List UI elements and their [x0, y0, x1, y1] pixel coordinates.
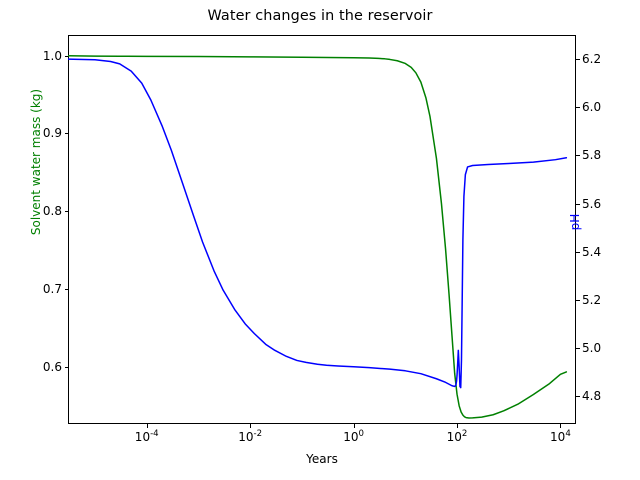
ytick-label-left-1: 0.7	[26, 282, 62, 296]
ytick-mark-left-0	[65, 367, 69, 368]
ytick-label-right-0: 4.8	[582, 389, 622, 403]
x-axis-label: Years	[68, 452, 576, 466]
ytick-label-right-4: 5.6	[582, 197, 622, 211]
y-axis-label-right: pH	[568, 192, 582, 252]
y-axis-label-left: Solvent water mass (kg)	[29, 42, 43, 282]
ytick-label-right-7: 6.2	[582, 52, 622, 66]
xtick-label-4: 104	[550, 430, 571, 444]
xtick-mark-0	[147, 424, 148, 428]
xtick-mark-1	[250, 424, 251, 428]
ytick-label-right-1: 5.0	[582, 341, 622, 355]
ytick-mark-right-0	[576, 396, 580, 397]
ytick-label-left-0: 0.6	[26, 360, 62, 374]
xtick-label-3: 102	[447, 430, 468, 444]
ytick-mark-left-4	[65, 56, 69, 57]
ytick-mark-left-1	[65, 289, 69, 290]
xtick-label-1: 10-2	[238, 430, 262, 444]
ytick-mark-right-1	[576, 348, 580, 349]
xtick-label-0: 10-4	[135, 430, 159, 444]
ytick-label-right-5: 5.8	[582, 148, 622, 162]
ytick-mark-right-7	[576, 59, 580, 60]
matplotlib-figure: Water changes in the reservoir 0.60.70.8…	[0, 0, 640, 480]
ytick-mark-right-5	[576, 155, 580, 156]
ytick-mark-right-2	[576, 300, 580, 301]
xtick-mark-4	[560, 424, 561, 428]
xtick-mark-2	[354, 424, 355, 428]
ytick-label-right-2: 5.2	[582, 293, 622, 307]
xtick-label-2: 100	[343, 430, 364, 444]
chart-curves	[68, 35, 576, 424]
ytick-mark-left-2	[65, 211, 69, 212]
ytick-mark-right-6	[576, 107, 580, 108]
ytick-label-right-6: 6.0	[582, 100, 622, 114]
xtick-mark-3	[457, 424, 458, 428]
ytick-mark-left-3	[65, 133, 69, 134]
ytick-label-right-3: 5.4	[582, 245, 622, 259]
chart-title: Water changes in the reservoir	[0, 8, 640, 24]
series-line-1	[68, 59, 566, 388]
